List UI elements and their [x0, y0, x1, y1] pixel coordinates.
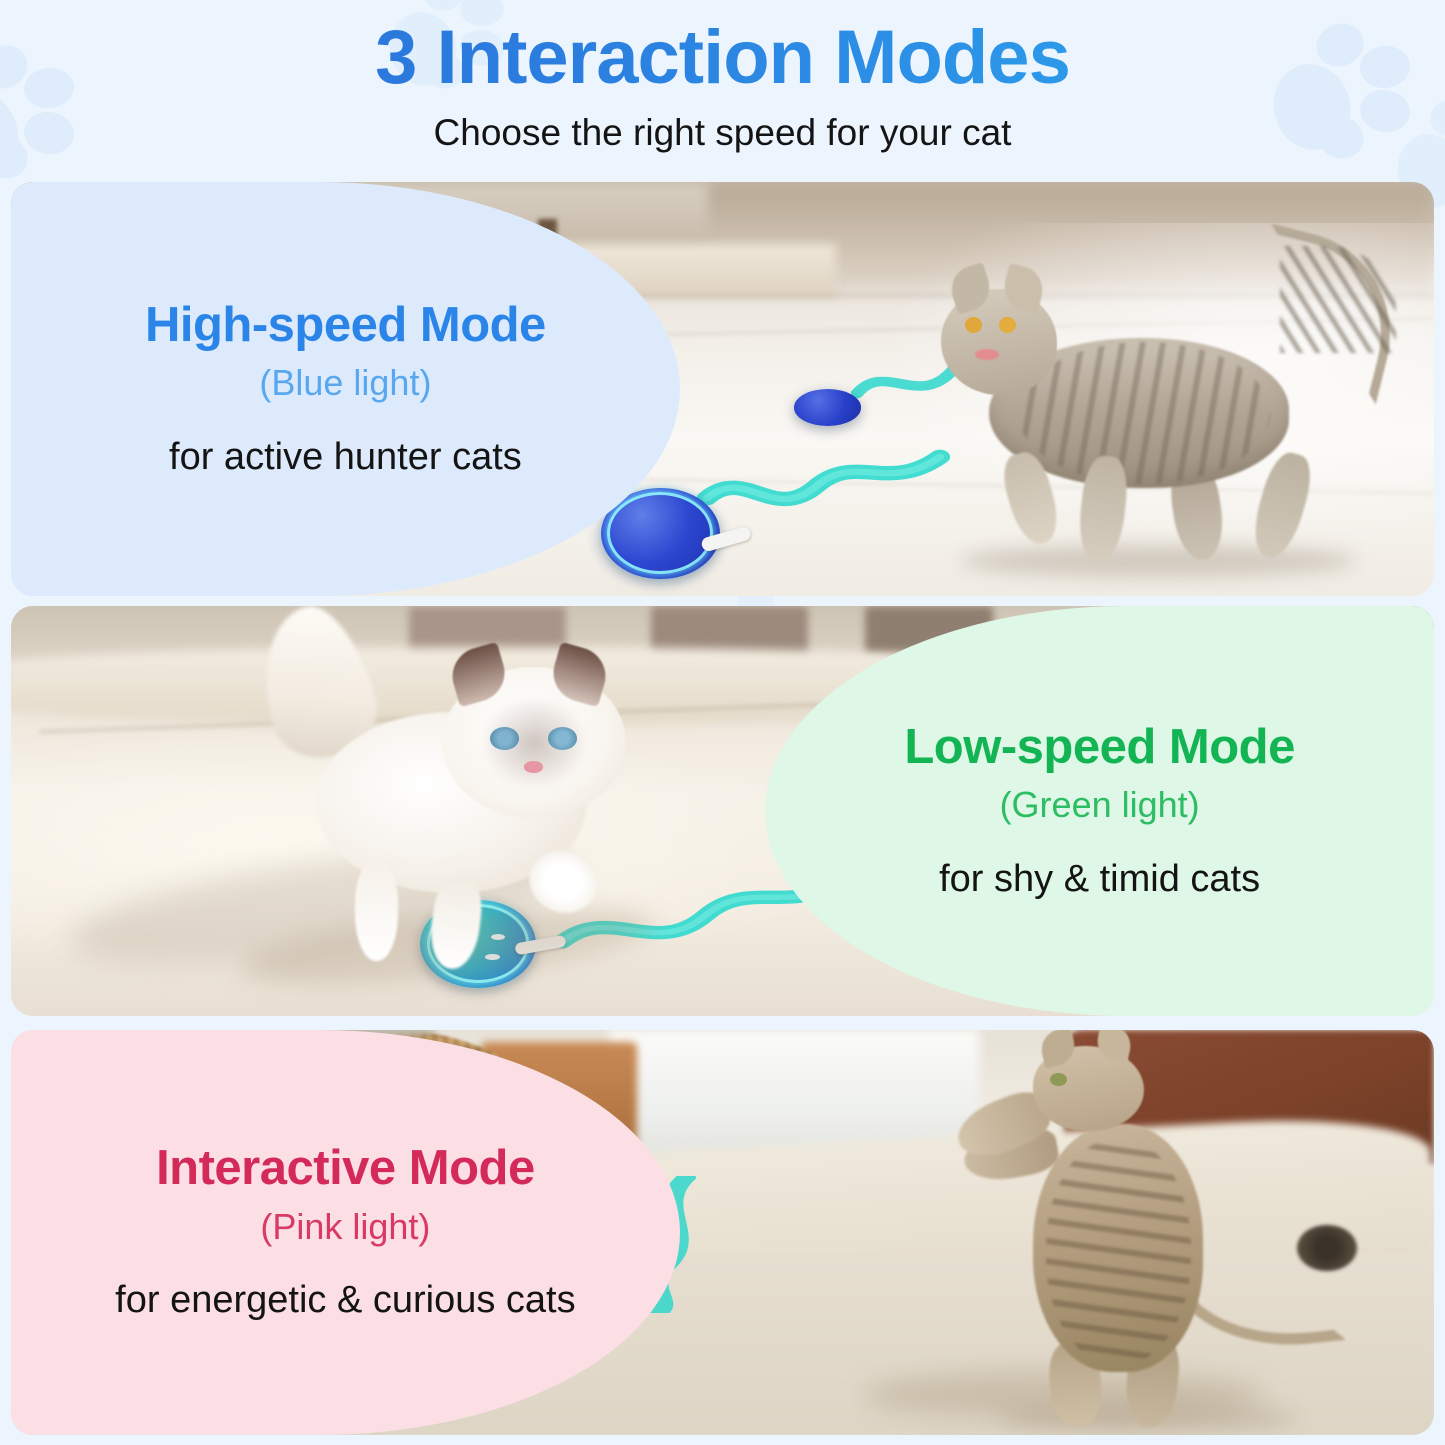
- mode-light-label: (Pink light): [57, 1207, 634, 1247]
- mode-panel-high-speed[interactable]: High-speed Mode (Blue light) for active …: [11, 182, 1434, 596]
- mode-panel-low-speed[interactable]: Low-speed Mode (Green light) for shy & t…: [11, 606, 1434, 1016]
- mode-panel-interactive[interactable]: Interactive Mode (Pink light) for energe…: [11, 1030, 1434, 1435]
- mode-light-label: (Blue light): [57, 363, 634, 403]
- cat-illustration-tabby: [922, 232, 1406, 588]
- cat-illustration-ragdoll: [239, 614, 723, 991]
- mode-description: for shy & timid cats: [811, 859, 1388, 901]
- page-subtitle: Choose the right speed for your cat: [0, 112, 1445, 154]
- toy-ball-blue: [594, 480, 907, 596]
- mode-title: High-speed Mode: [57, 300, 634, 351]
- page-header: 3 Interaction Modes Choose the right spe…: [0, 0, 1445, 176]
- page-title: 3 Interaction Modes: [0, 18, 1445, 98]
- cat-illustration-jumping-tabby: [922, 1038, 1349, 1427]
- mode-description: for energetic & curious cats: [57, 1280, 634, 1322]
- mode-light-label: (Green light): [811, 785, 1388, 825]
- mode-panel-list: High-speed Mode (Blue light) for active …: [0, 176, 1445, 1445]
- mode-description: for active hunter cats: [57, 437, 634, 479]
- mode-title: Low-speed Mode: [811, 722, 1388, 773]
- mode-title: Interactive Mode: [57, 1143, 634, 1194]
- toy-ball-secondary: [794, 389, 894, 439]
